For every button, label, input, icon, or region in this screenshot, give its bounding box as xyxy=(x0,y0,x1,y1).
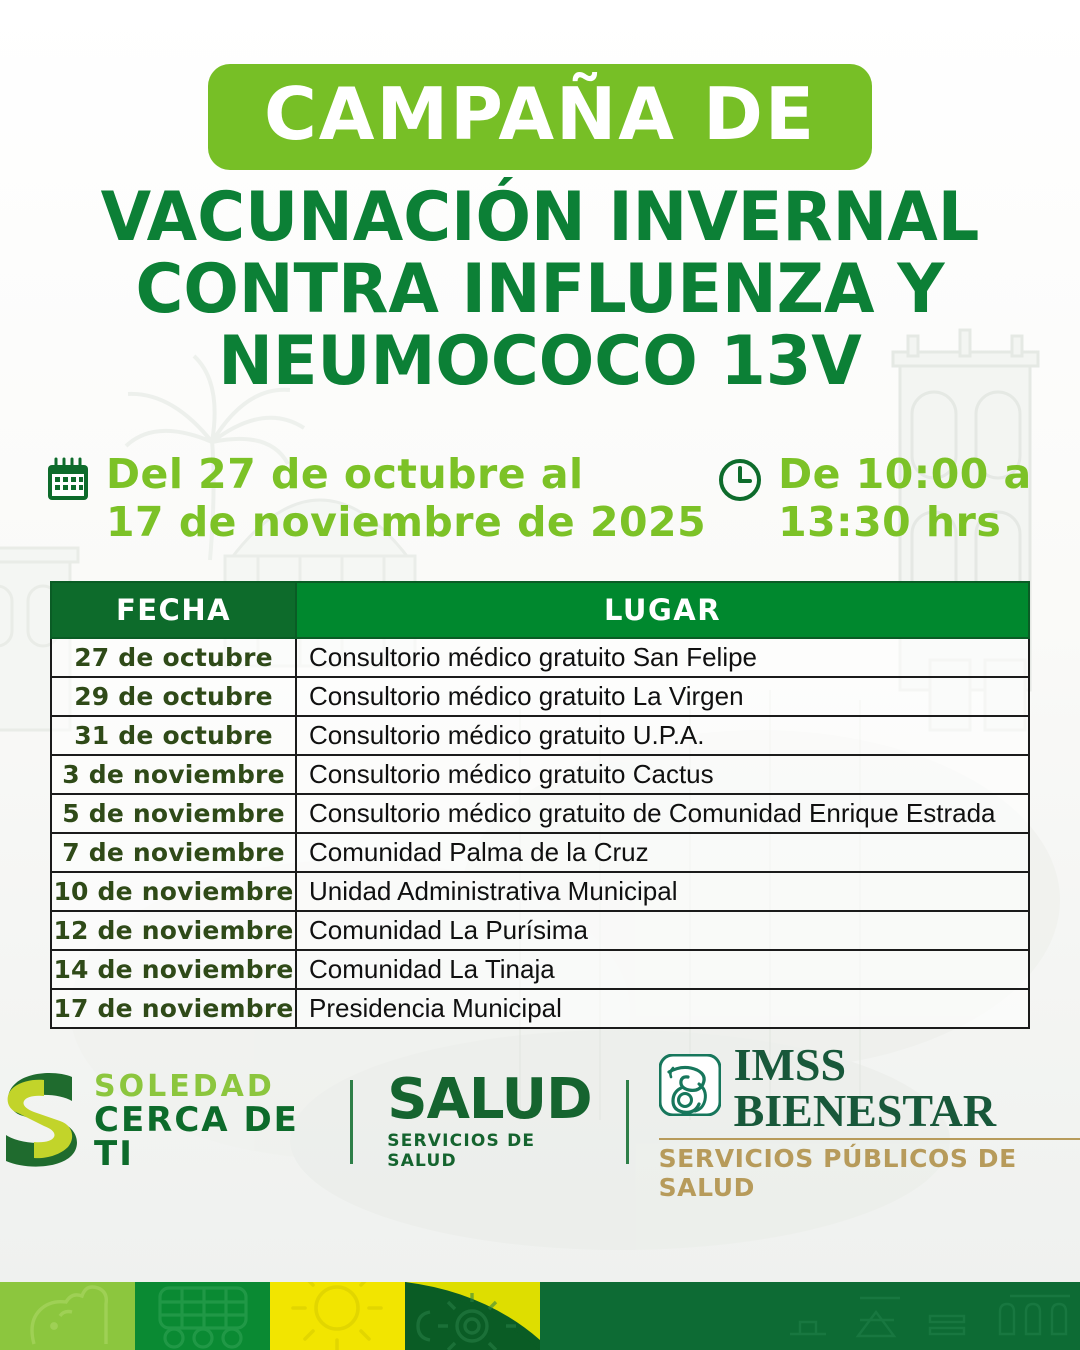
table-row: 17 de noviembrePresidencia Municipal xyxy=(51,989,1029,1028)
cell-lugar: Comunidad La Purísima xyxy=(296,911,1029,950)
cell-lugar: Comunidad La Tinaja xyxy=(296,950,1029,989)
table-row: 12 de noviembreComunidad La Purísima xyxy=(51,911,1029,950)
soledad-logo-line-1: SOLEDAD xyxy=(94,1072,320,1102)
imss-logo-row: IMSS BIENESTAR xyxy=(659,1042,1080,1134)
cell-fecha: 7 de noviembre xyxy=(51,833,296,872)
table-row: 29 de octubreConsultorio médico gratuito… xyxy=(51,677,1029,716)
cell-fecha: 29 de octubre xyxy=(51,677,296,716)
column-header-fecha: FECHA xyxy=(51,582,296,638)
campaign-badge-label: CAMPAÑA DE xyxy=(264,78,816,150)
soledad-logo-text: SOLEDAD CERCA DE TI xyxy=(94,1072,320,1171)
imss-logo: IMSS BIENESTAR SERVICIOS PÚBLICOS DE SAL… xyxy=(629,1042,1080,1202)
campaign-time-text: De 10:00 a 13:30 hrs xyxy=(778,450,1032,547)
bottom-decorative-strip xyxy=(0,1282,1080,1350)
table-row: 7 de noviembreComunidad Palma de la Cruz xyxy=(51,833,1029,872)
cell-lugar: Consultorio médico gratuito Cactus xyxy=(296,755,1029,794)
cell-lugar: Consultorio médico gratuito San Felipe xyxy=(296,638,1029,677)
logo-divider-left xyxy=(350,1080,353,1164)
cell-lugar: Comunidad Palma de la Cruz xyxy=(296,833,1029,872)
salud-logo: SALUD SERVICIOS DE SALUD xyxy=(353,1072,625,1171)
cell-fecha: 3 de noviembre xyxy=(51,755,296,794)
title-line-2: CONTRA INFLUENZA Y xyxy=(22,256,1059,324)
salud-logo-main: SALUD xyxy=(387,1072,591,1128)
title-line-3: NEUMOCOCO 13V xyxy=(22,328,1059,396)
soledad-logo: SOLEDAD CERCA DE TI xyxy=(0,1069,350,1174)
cell-fecha: 17 de noviembre xyxy=(51,989,296,1028)
strip-block-cow xyxy=(0,1282,135,1350)
page-title: VACUNACIÓN INVERNAL CONTRA INFLUENZA Y N… xyxy=(0,184,1080,396)
soledad-logo-line-2: CERCA DE TI xyxy=(94,1103,320,1171)
schedule-table-body: 27 de octubreConsultorio médico gratuito… xyxy=(51,638,1029,1028)
cell-fecha: 14 de noviembre xyxy=(51,950,296,989)
cell-lugar: Consultorio médico gratuito de Comunidad… xyxy=(296,794,1029,833)
campaign-date-block: Del 27 de octubre al 17 de noviembre de … xyxy=(44,450,706,547)
cell-fecha: 27 de octubre xyxy=(51,638,296,677)
header: CAMPAÑA DE VACUNACIÓN INVERNAL CONTRA IN… xyxy=(0,0,1080,396)
salud-logo-sub: SERVICIOS DE SALUD xyxy=(387,1131,591,1171)
imss-logo-sub: SERVICIOS PÚBLICOS DE SALUD xyxy=(659,1144,1080,1202)
table-row: 14 de noviembreComunidad La Tinaja xyxy=(51,950,1029,989)
soledad-s-logo-icon xyxy=(0,1069,78,1174)
logo-divider-right xyxy=(626,1080,629,1164)
campaign-badge: CAMPAÑA DE xyxy=(208,64,872,170)
campaign-date-line-2: 17 de noviembre de 2025 xyxy=(106,498,706,546)
imss-logo-name: IMSS BIENESTAR xyxy=(734,1042,1080,1134)
calendar-icon xyxy=(44,456,92,509)
strip-block-bus xyxy=(135,1282,270,1350)
campaign-time-block: De 10:00 a 13:30 hrs xyxy=(706,450,1044,547)
schedule-table-container: FECHA LUGAR 27 de octubreConsultorio méd… xyxy=(50,581,1030,1029)
campaign-date-text: Del 27 de octubre al 17 de noviembre de … xyxy=(106,450,706,547)
campaign-info-row: Del 27 de octubre al 17 de noviembre de … xyxy=(0,450,1080,547)
poster-root: CAMPAÑA DE VACUNACIÓN INVERNAL CONTRA IN… xyxy=(0,0,1080,1350)
cell-fecha: 12 de noviembre xyxy=(51,911,296,950)
clock-icon xyxy=(716,456,764,509)
table-row: 3 de noviembreConsultorio médico gratuit… xyxy=(51,755,1029,794)
cell-fecha: 10 de noviembre xyxy=(51,872,296,911)
table-row: 31 de octubreConsultorio médico gratuito… xyxy=(51,716,1029,755)
strip-block-gear xyxy=(405,1282,540,1350)
footer-logos: SOLEDAD CERCA DE TI SALUD SERVICIOS DE S… xyxy=(0,1067,1080,1177)
column-header-lugar: LUGAR xyxy=(296,582,1029,638)
imss-logo-rule xyxy=(659,1138,1080,1140)
campaign-time-line-1: De 10:00 a xyxy=(778,450,1032,498)
table-header-row: FECHA LUGAR xyxy=(51,582,1029,638)
table-row: 10 de noviembreUnidad Administrativa Mun… xyxy=(51,872,1029,911)
schedule-table: FECHA LUGAR 27 de octubreConsultorio méd… xyxy=(50,581,1030,1029)
strip-block-sun xyxy=(270,1282,405,1350)
campaign-time-line-2: 13:30 hrs xyxy=(778,498,1032,546)
table-row: 27 de octubreConsultorio médico gratuito… xyxy=(51,638,1029,677)
cell-fecha: 31 de octubre xyxy=(51,716,296,755)
cell-fecha: 5 de noviembre xyxy=(51,794,296,833)
imss-eagle-icon xyxy=(659,1054,721,1121)
cell-lugar: Consultorio médico gratuito La Virgen xyxy=(296,677,1029,716)
cell-lugar: Consultorio médico gratuito U.P.A. xyxy=(296,716,1029,755)
title-line-1: VACUNACIÓN INVERNAL xyxy=(22,184,1059,252)
schedule-table-head: FECHA LUGAR xyxy=(51,582,1029,638)
table-row: 5 de noviembreConsultorio médico gratuit… xyxy=(51,794,1029,833)
campaign-date-line-1: Del 27 de octubre al xyxy=(106,450,706,498)
cell-lugar: Presidencia Municipal xyxy=(296,989,1029,1028)
cell-lugar: Unidad Administrativa Municipal xyxy=(296,872,1029,911)
